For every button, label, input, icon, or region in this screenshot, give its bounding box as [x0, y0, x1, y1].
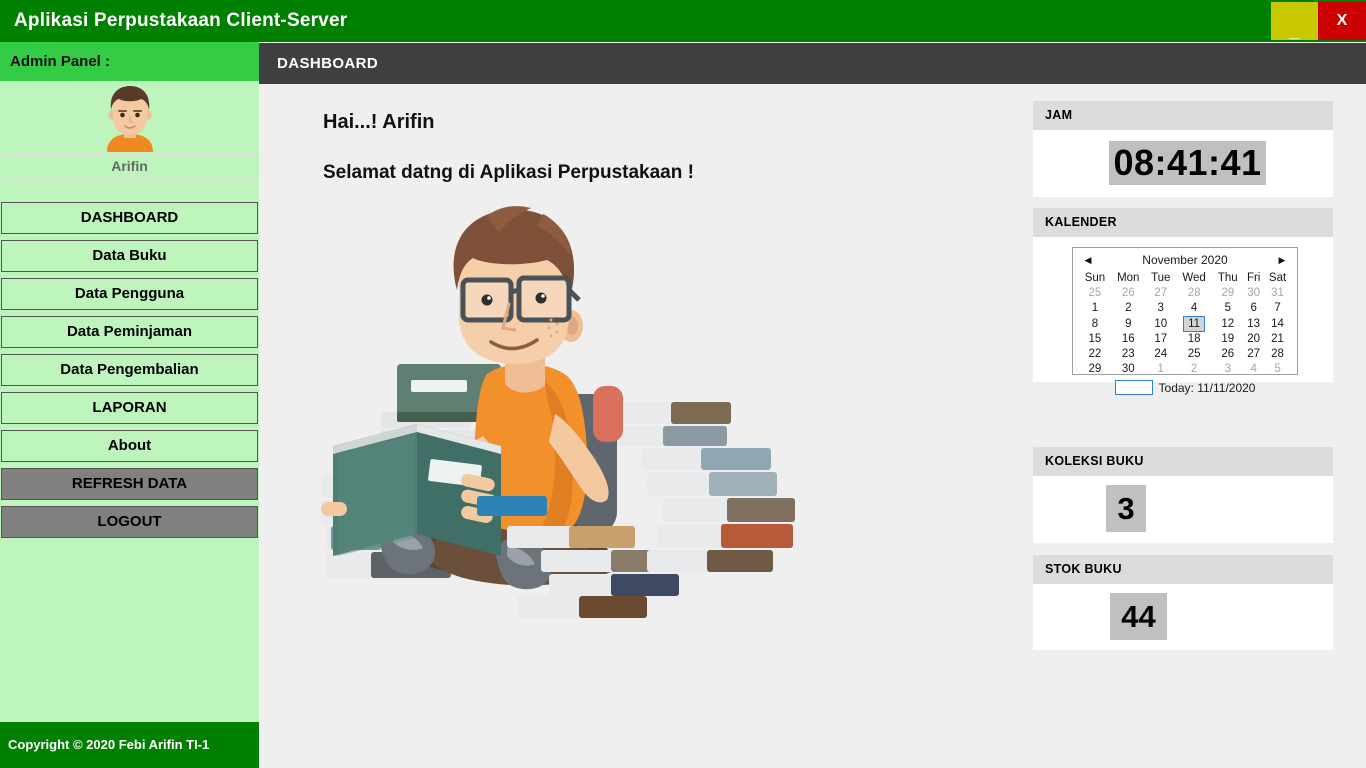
- calendar-day-cell[interactable]: 17: [1146, 332, 1176, 347]
- hero-illustration: [311, 204, 821, 634]
- calendar-day-cell[interactable]: 31: [1264, 286, 1291, 301]
- calendar-day-cell[interactable]: 25: [1079, 286, 1111, 301]
- calendar-weekday: Tue: [1146, 270, 1176, 286]
- koleksi-buku-value: 3: [1106, 485, 1146, 532]
- calendar-day-cell[interactable]: 8: [1079, 316, 1111, 332]
- application-window: Aplikasi Perpustakaan Client-Server _ X …: [0, 0, 1366, 768]
- calendar-days-body: 2526272829303112345678910111213141516171…: [1079, 286, 1291, 377]
- calendar-day-cell[interactable]: 30: [1111, 362, 1146, 377]
- calendar-day-cell[interactable]: 24: [1146, 347, 1176, 362]
- sidebar-item-laporan[interactable]: LAPORAN: [1, 392, 258, 424]
- kalender-panel-title: KALENDER: [1033, 208, 1333, 237]
- calendar-selected-day: 11: [1183, 316, 1205, 332]
- greeting-text: Hai...! Arifin: [323, 111, 434, 134]
- page-header-bar: DASHBOARD: [259, 43, 1366, 84]
- calendar-week-row: 1234567: [1079, 301, 1291, 316]
- calendar-day-cell[interactable]: 14: [1264, 316, 1291, 332]
- sidebar-item-data-buku[interactable]: Data Buku: [1, 240, 258, 272]
- stok-buku-panel: STOK BUKU 44: [1033, 555, 1333, 650]
- calendar-nav: ◀ November 2020 ▶: [1079, 251, 1291, 270]
- calendar-widget[interactable]: ◀ November 2020 ▶ Sun Mon Tue Wed Thu Fr…: [1072, 247, 1298, 375]
- sidebar-header: Admin Panel :: [0, 42, 259, 81]
- page-title: DASHBOARD: [277, 43, 378, 84]
- chevron-right-icon[interactable]: ▶: [1275, 251, 1289, 270]
- app-title: Aplikasi Perpustakaan Client-Server: [14, 0, 347, 42]
- koleksi-buku-panel: KOLEKSI BUKU 3: [1033, 447, 1333, 543]
- clock-value: 08:41:41: [1109, 141, 1266, 185]
- stok-buku-panel-title: STOK BUKU: [1033, 555, 1333, 584]
- sidebar-item-dashboard[interactable]: DASHBOARD: [1, 202, 258, 234]
- calendar-day-cell[interactable]: 9: [1111, 316, 1146, 332]
- user-avatar-icon: [95, 84, 165, 152]
- student-reading-books-illustration: [311, 204, 821, 634]
- calendar-day-cell[interactable]: 13: [1243, 316, 1264, 332]
- calendar-day-cell[interactable]: 26: [1212, 347, 1243, 362]
- calendar-day-cell[interactable]: 27: [1243, 347, 1264, 362]
- koleksi-buku-panel-body: 3: [1033, 476, 1333, 543]
- calendar-day-cell[interactable]: 26: [1111, 286, 1146, 301]
- calendar-weekday: Sat: [1264, 270, 1291, 286]
- calendar-day-cell[interactable]: 10: [1146, 316, 1176, 332]
- calendar-day-cell[interactable]: 16: [1111, 332, 1146, 347]
- calendar-day-cell[interactable]: 2: [1111, 301, 1146, 316]
- calendar-day-cell[interactable]: 29: [1212, 286, 1243, 301]
- calendar-day-cell[interactable]: 12: [1212, 316, 1243, 332]
- jam-panel-body: 08:41:41: [1033, 130, 1333, 197]
- calendar-weekday: Mon: [1111, 270, 1146, 286]
- welcome-text: Selamat datng di Aplikasi Perpustakaan !: [323, 162, 694, 184]
- calendar-day-cell[interactable]: 3: [1212, 362, 1243, 377]
- stok-buku-panel-body: 44: [1033, 584, 1333, 650]
- calendar-month-label: November 2020: [1079, 251, 1291, 270]
- calendar-grid: Sun Mon Tue Wed Thu Fri Sat 252627282930…: [1079, 270, 1291, 377]
- calendar-day-cell[interactable]: 28: [1176, 286, 1213, 301]
- calendar-day-cell[interactable]: 19: [1212, 332, 1243, 347]
- calendar-day-cell[interactable]: 11: [1176, 316, 1213, 332]
- calendar-day-cell[interactable]: 4: [1243, 362, 1264, 377]
- calendar-today-text: Today: 11/11/2020: [1159, 381, 1256, 395]
- calendar-day-cell[interactable]: 29: [1079, 362, 1111, 377]
- calendar-day-cell[interactable]: 6: [1243, 301, 1264, 316]
- calendar-day-cell[interactable]: 28: [1264, 347, 1291, 362]
- sidebar: Admin Panel :: [0, 42, 259, 768]
- sidebar-item-logout[interactable]: LOGOUT: [1, 506, 258, 538]
- calendar-today-row: Today: 11/11/2020: [1079, 379, 1291, 396]
- admin-panel-label: Admin Panel :: [10, 42, 110, 81]
- calendar-weekday: Thu: [1212, 270, 1243, 286]
- sidebar-footer: Copyright © 2020 Febi Arifin TI-1: [0, 722, 259, 768]
- calendar-day-cell[interactable]: 30: [1243, 286, 1264, 301]
- sidebar-item-data-pengguna[interactable]: Data Pengguna: [1, 278, 258, 310]
- copyright-text: Copyright © 2020 Febi Arifin TI-1: [8, 722, 209, 768]
- jam-panel-title: JAM: [1033, 101, 1333, 130]
- calendar-day-cell[interactable]: 5: [1264, 362, 1291, 377]
- calendar-day-cell[interactable]: 20: [1243, 332, 1264, 347]
- chevron-left-icon[interactable]: ◀: [1081, 251, 1095, 270]
- jam-panel: JAM 08:41:41: [1033, 101, 1333, 197]
- calendar-day-cell[interactable]: 4: [1176, 301, 1213, 316]
- calendar-weekday: Sun: [1079, 270, 1111, 286]
- kalender-panel-body: ◀ November 2020 ▶ Sun Mon Tue Wed Thu Fr…: [1033, 237, 1333, 382]
- stok-buku-value: 44: [1110, 593, 1167, 640]
- close-button[interactable]: X: [1318, 2, 1366, 40]
- calendar-day-cell[interactable]: 18: [1176, 332, 1213, 347]
- minimize-button[interactable]: _: [1271, 2, 1318, 40]
- calendar-week-row: 293012345: [1079, 362, 1291, 377]
- calendar-today-swatch: [1115, 380, 1153, 395]
- calendar-day-cell[interactable]: 21: [1264, 332, 1291, 347]
- koleksi-buku-panel-title: KOLEKSI BUKU: [1033, 447, 1333, 476]
- avatar: [95, 84, 165, 152]
- sidebar-item-refresh-data[interactable]: REFRESH DATA: [1, 468, 258, 500]
- calendar-week-row: 25262728293031: [1079, 286, 1291, 301]
- title-bar: Aplikasi Perpustakaan Client-Server _ X: [0, 0, 1366, 42]
- calendar-day-cell[interactable]: 1: [1079, 301, 1111, 316]
- sidebar-item-data-pengembalian[interactable]: Data Pengembalian: [1, 354, 258, 386]
- calendar-week-row: 22232425262728: [1079, 347, 1291, 362]
- kalender-panel: KALENDER ◀ November 2020 ▶ Sun Mon Tue W…: [1033, 208, 1333, 382]
- calendar-day-cell[interactable]: 2: [1176, 362, 1213, 377]
- username-label: Arifin: [1, 154, 258, 179]
- calendar-day-cell[interactable]: 27: [1146, 286, 1176, 301]
- calendar-weekday-row: Sun Mon Tue Wed Thu Fri Sat: [1079, 270, 1291, 286]
- calendar-weekday: Fri: [1243, 270, 1264, 286]
- sidebar-nav: DASHBOARD Data Buku Data Pengguna Data P…: [1, 202, 258, 544]
- calendar-week-row: 15161718192021: [1079, 332, 1291, 347]
- calendar-day-cell[interactable]: 22: [1079, 347, 1111, 362]
- calendar-week-row: 891011121314: [1079, 316, 1291, 332]
- calendar-day-cell[interactable]: 7: [1264, 301, 1291, 316]
- calendar-day-cell[interactable]: 15: [1079, 332, 1111, 347]
- calendar-weekday: Wed: [1176, 270, 1213, 286]
- calendar-day-cell[interactable]: 3: [1146, 301, 1176, 316]
- calendar-day-cell[interactable]: 1: [1146, 362, 1176, 377]
- calendar-day-cell[interactable]: 5: [1212, 301, 1243, 316]
- calendar-day-cell[interactable]: 25: [1176, 347, 1213, 362]
- sidebar-item-data-peminjaman[interactable]: Data Peminjaman: [1, 316, 258, 348]
- calendar-day-cell[interactable]: 23: [1111, 347, 1146, 362]
- sidebar-item-about[interactable]: About: [1, 430, 258, 462]
